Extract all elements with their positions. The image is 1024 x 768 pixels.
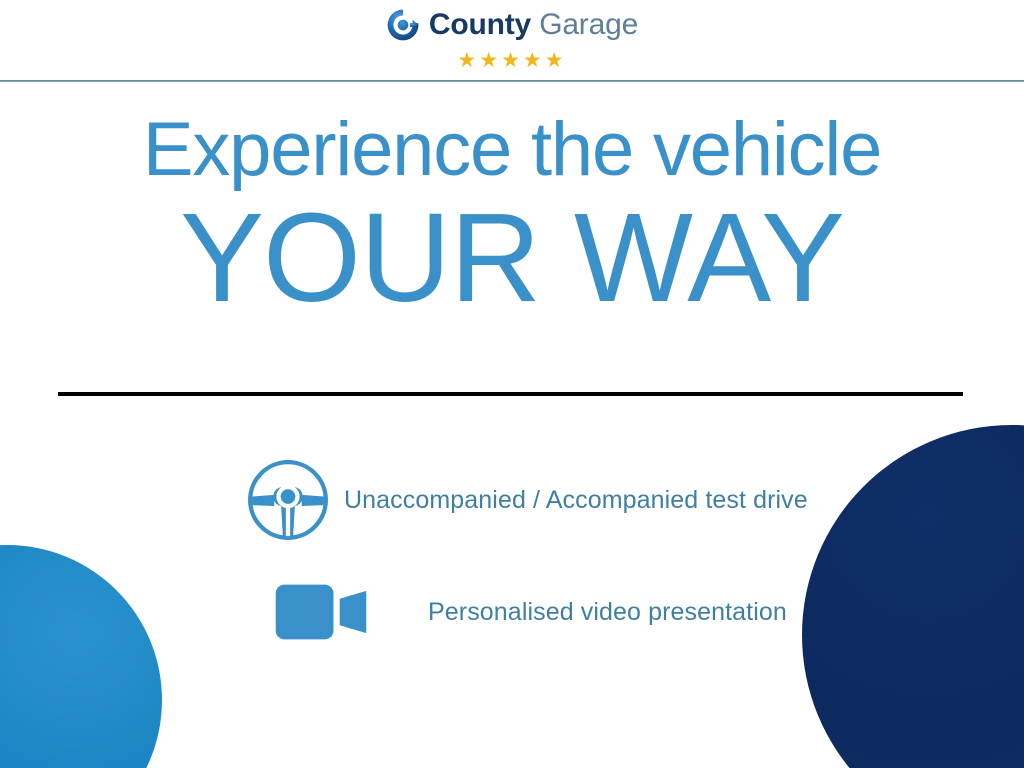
feature-label-video: Personalised video presentation [428, 598, 787, 627]
header-divider [0, 80, 1024, 82]
headline-block: Experience the vehicle YOUR WAY [0, 112, 1024, 323]
feature-item-test-drive: Unaccompanied / Accompanied test drive [232, 444, 972, 556]
brand-wordmark: County Garage [429, 10, 638, 40]
brand-name-primary: County [429, 8, 531, 41]
county-garage-circular-c-logo-icon [386, 8, 420, 42]
feature-list: Unaccompanied / Accompanied test drive P… [232, 444, 972, 668]
brand-logo-block: County Garage ★★★★★ [0, 8, 1024, 71]
headline-line-2: YOUR WAY [0, 194, 1024, 323]
brand-name-secondary: Garage [539, 8, 638, 41]
video-camera-icon [274, 580, 368, 644]
section-divider [58, 392, 963, 396]
brand-header: County Garage ★★★★★ [0, 0, 1024, 82]
decorative-circle-bottom-left [0, 545, 162, 768]
steering-wheel-icon [245, 457, 331, 543]
brand-logo-row: County Garage [386, 8, 638, 42]
feature-icon-wrapper [232, 580, 428, 644]
promo-slide: County Garage ★★★★★ Experience the vehic… [0, 0, 1024, 768]
feature-label-test-drive: Unaccompanied / Accompanied test drive [344, 486, 808, 515]
headline-line-1: Experience the vehicle [0, 112, 1024, 188]
feature-icon-wrapper [232, 457, 344, 543]
rating-stars: ★★★★★ [0, 50, 1024, 71]
feature-item-video: Personalised video presentation [232, 556, 972, 668]
